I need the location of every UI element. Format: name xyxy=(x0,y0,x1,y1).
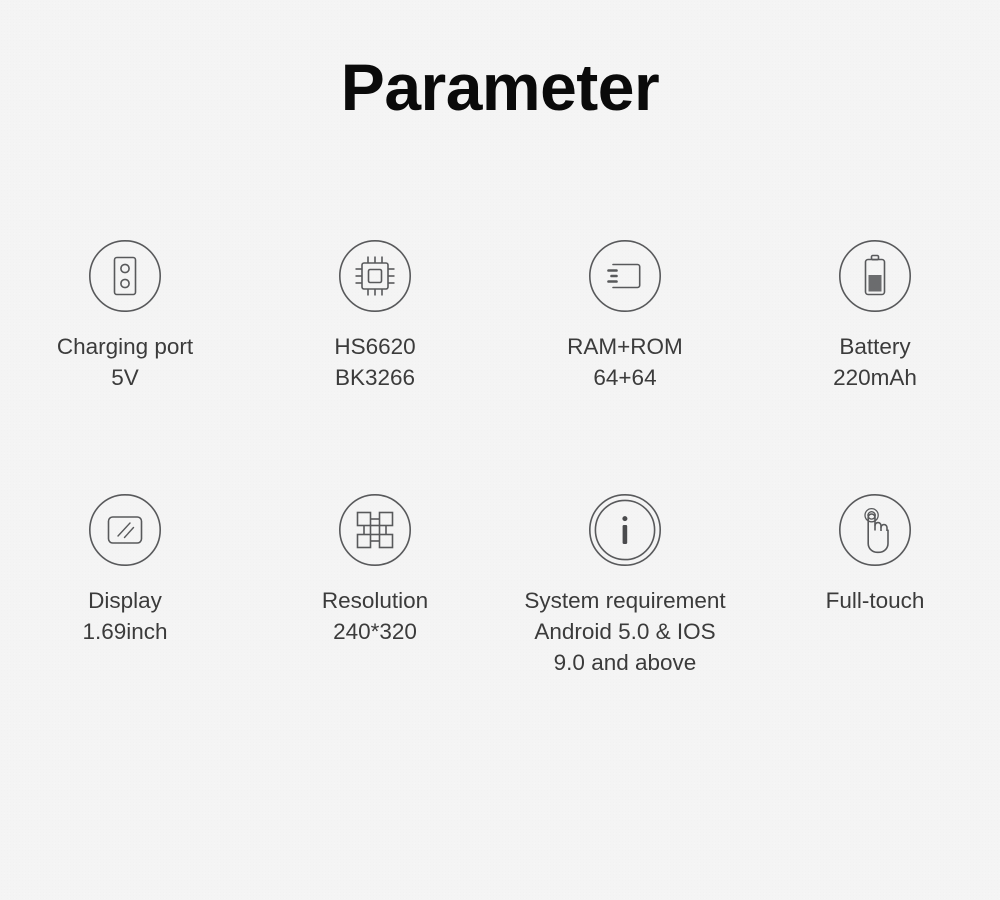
spec-line: 1.69inch xyxy=(82,616,167,647)
spec-grid: Charging port 5V xyxy=(0,238,1000,722)
touch-hand-icon xyxy=(837,492,913,568)
parameter-sheet: Parameter Charging port 5V xyxy=(0,0,1000,900)
memory-card-icon xyxy=(587,238,663,314)
charging-port-icon xyxy=(87,238,163,314)
spec-line: Full-touch xyxy=(826,585,925,616)
spec-item-chipset: HS6620 BK3266 xyxy=(250,238,500,492)
spec-line: 64+64 xyxy=(567,362,683,393)
spec-row-2: Display 1.69inch xyxy=(0,492,1000,722)
page-title: Parameter xyxy=(0,48,1000,126)
spec-line: System requirement xyxy=(524,585,725,616)
spec-item-labels: RAM+ROM 64+64 xyxy=(567,331,683,393)
spec-line: Resolution xyxy=(322,585,428,616)
spec-row-1: Charging port 5V xyxy=(0,238,1000,492)
info-circle-icon xyxy=(587,492,663,568)
spec-item-labels: HS6620 BK3266 xyxy=(334,331,415,393)
display-screen-icon xyxy=(87,492,163,568)
spec-line: 220mAh xyxy=(833,362,917,393)
spec-item-full-touch: Full-touch xyxy=(750,492,1000,722)
spec-item-battery: Battery 220mAh xyxy=(750,238,1000,492)
spec-line: BK3266 xyxy=(334,362,415,393)
spec-line: 240*320 xyxy=(322,616,428,647)
spec-item-labels: Resolution 240*320 xyxy=(322,585,428,647)
spec-item-display: Display 1.69inch xyxy=(0,492,250,722)
spec-line: Display xyxy=(82,585,167,616)
battery-icon xyxy=(837,238,913,314)
spec-line: Android 5.0 & IOS xyxy=(524,616,725,647)
spec-item-labels: Charging port 5V xyxy=(57,331,193,393)
spec-item-labels: Full-touch xyxy=(826,585,925,616)
spec-line: HS6620 xyxy=(334,331,415,362)
spec-item-charging-port: Charging port 5V xyxy=(0,238,250,492)
spec-line: Charging port xyxy=(57,331,193,362)
spec-line: Battery xyxy=(833,331,917,362)
spec-item-memory: RAM+ROM 64+64 xyxy=(500,238,750,492)
spec-item-labels: Battery 220mAh xyxy=(833,331,917,393)
spec-line: RAM+ROM xyxy=(567,331,683,362)
cpu-chip-icon xyxy=(337,238,413,314)
spec-item-labels: Display 1.69inch xyxy=(82,585,167,647)
spec-line: 9.0 and above xyxy=(524,647,725,678)
spec-item-labels: System requirement Android 5.0 & IOS 9.0… xyxy=(524,585,725,678)
resolution-grid-icon xyxy=(337,492,413,568)
spec-item-system-requirement: System requirement Android 5.0 & IOS 9.0… xyxy=(500,492,750,722)
spec-line: 5V xyxy=(57,362,193,393)
spec-item-resolution: Resolution 240*320 xyxy=(250,492,500,722)
